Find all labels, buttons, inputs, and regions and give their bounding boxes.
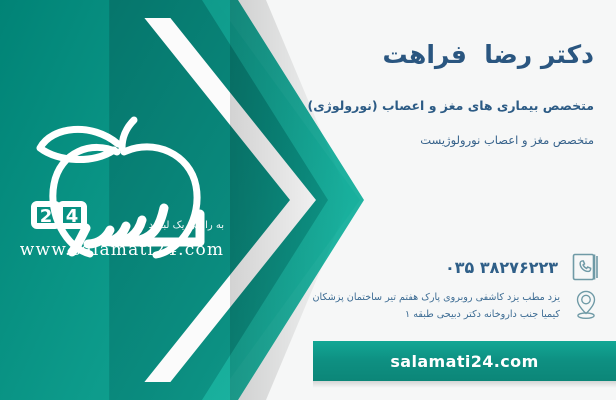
salamati24-logo: 2 4 به راحتی یک لبخند www.salamati24.com xyxy=(14,108,230,273)
logo-tagline: به راحتی یک لبخند xyxy=(149,220,224,231)
card-content: دکتر رضا فراهت متخصص بیماری های مغز و اع… xyxy=(286,0,616,400)
phonebook-icon xyxy=(570,250,602,284)
footer-bar: salamati24.com xyxy=(313,341,616,381)
doctor-specialty-secondary: متخصص مغز و اعصاب نورولوژیست xyxy=(420,133,594,147)
phone-row: ۳۸۲۷۶۲۲۳ ۰۳۵ xyxy=(445,250,602,284)
address-lines: یزد مطب یزد کاشفی روبروی پارک هفتم تیر س… xyxy=(312,288,560,323)
address-row: یزد مطب یزد کاشفی روبروی پارک هفتم تیر س… xyxy=(312,288,602,323)
svg-text:4: 4 xyxy=(66,206,79,227)
svg-text:2: 2 xyxy=(40,206,53,227)
doctor-specialty-primary: متخصص بیماری های مغز و اعصاب (نورولوژی) xyxy=(307,98,594,113)
address-line-2: کیمیا جنب داروخانه دکتر دبیحی طبقه ۱ xyxy=(312,306,560,323)
address-line-1: یزد مطب یزد کاشفی روبروی پارک هفتم تیر س… xyxy=(312,289,560,306)
footer-left-teal-block xyxy=(0,341,320,400)
footer-site-url[interactable]: salamati24.com xyxy=(390,352,538,371)
map-pin-icon xyxy=(570,288,602,322)
phone-number[interactable]: ۳۸۲۷۶۲۲۳ ۰۳۵ xyxy=(445,258,558,277)
footer-shadow xyxy=(313,381,616,388)
doctor-name: دکتر رضا فراهت xyxy=(383,40,594,69)
logo-url: www.salamati24.com xyxy=(14,240,230,260)
business-card: 2 4 به راحتی یک لبخند www.salamati24.com… xyxy=(0,0,616,400)
